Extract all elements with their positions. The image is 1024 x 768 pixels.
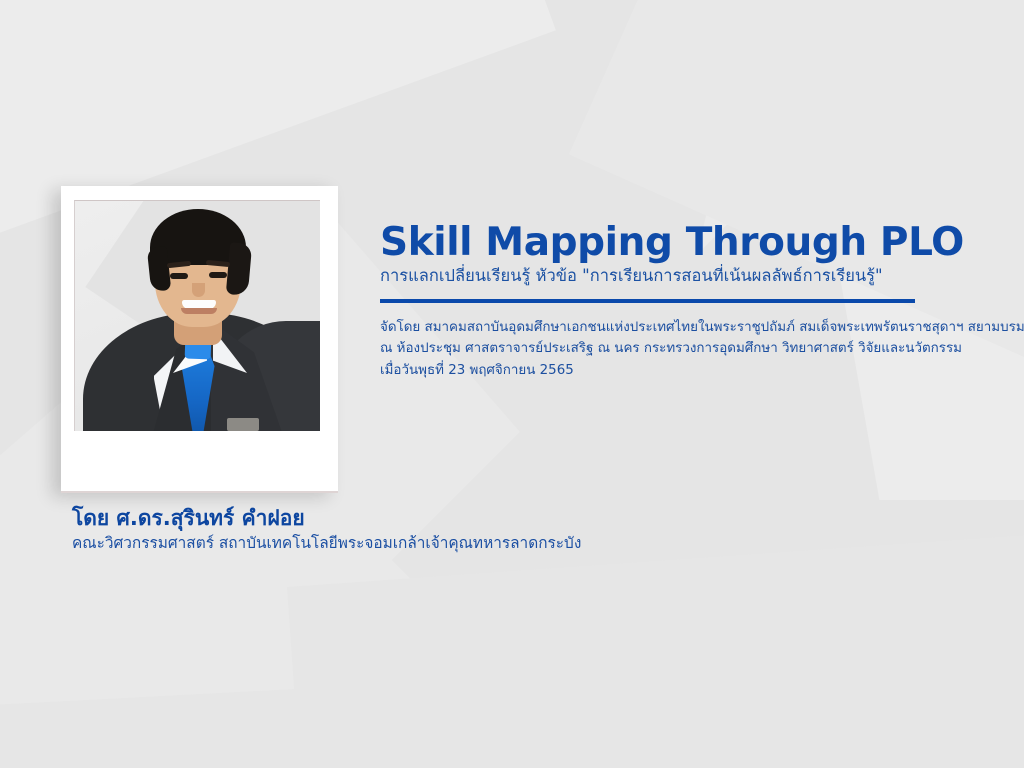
title-block: Skill Mapping Through PLO การแลกเปลี่ยนเ…	[380, 222, 980, 382]
portrait-eye-left	[170, 273, 188, 279]
presentation-slide: Skill Mapping Through PLO การแลกเปลี่ยนเ…	[0, 0, 1024, 768]
event-details: จัดโดย สมาคมสถาบันอุดมศึกษาเอกชนแห่งประเ…	[380, 317, 980, 382]
portrait-nose	[192, 283, 205, 297]
event-date: เมื่อวันพุธที่ 23 พฤศจิกายน 2565	[380, 360, 980, 382]
portrait-lower-lip	[181, 308, 217, 314]
speaker-affiliation: คณะวิศวกรรมศาสตร์ สถาบันเทคโนโลยีพระจอมเ…	[72, 533, 632, 555]
event-venue: ณ ห้องประชุม ศาสตราจารย์ประเสริฐ ณ นคร ก…	[380, 338, 980, 360]
background-facet	[287, 534, 1024, 768]
page-subtitle: การแลกเปลี่ยนเรียนรู้ หัวข้อ "การเรียนกา…	[380, 265, 980, 286]
speaker-photo	[74, 200, 320, 431]
event-organizer: จัดโดย สมาคมสถาบันอุดมศึกษาเอกชนแห่งประเ…	[380, 317, 980, 339]
background-facet	[392, 122, 1024, 768]
page-title: Skill Mapping Through PLO	[380, 222, 980, 263]
portrait-eye-right	[209, 272, 227, 278]
title-divider	[380, 299, 915, 303]
portrait-name-badge	[227, 418, 259, 431]
speaker-block: โดย ศ.ดร.สุรินทร์ คำฝอย คณะวิศวกรรมศาสตร…	[72, 505, 632, 554]
speaker-photo-frame	[61, 186, 338, 493]
background-facet	[0, 675, 565, 768]
speaker-name: โดย ศ.ดร.สุรินทร์ คำฝอย	[72, 505, 632, 533]
